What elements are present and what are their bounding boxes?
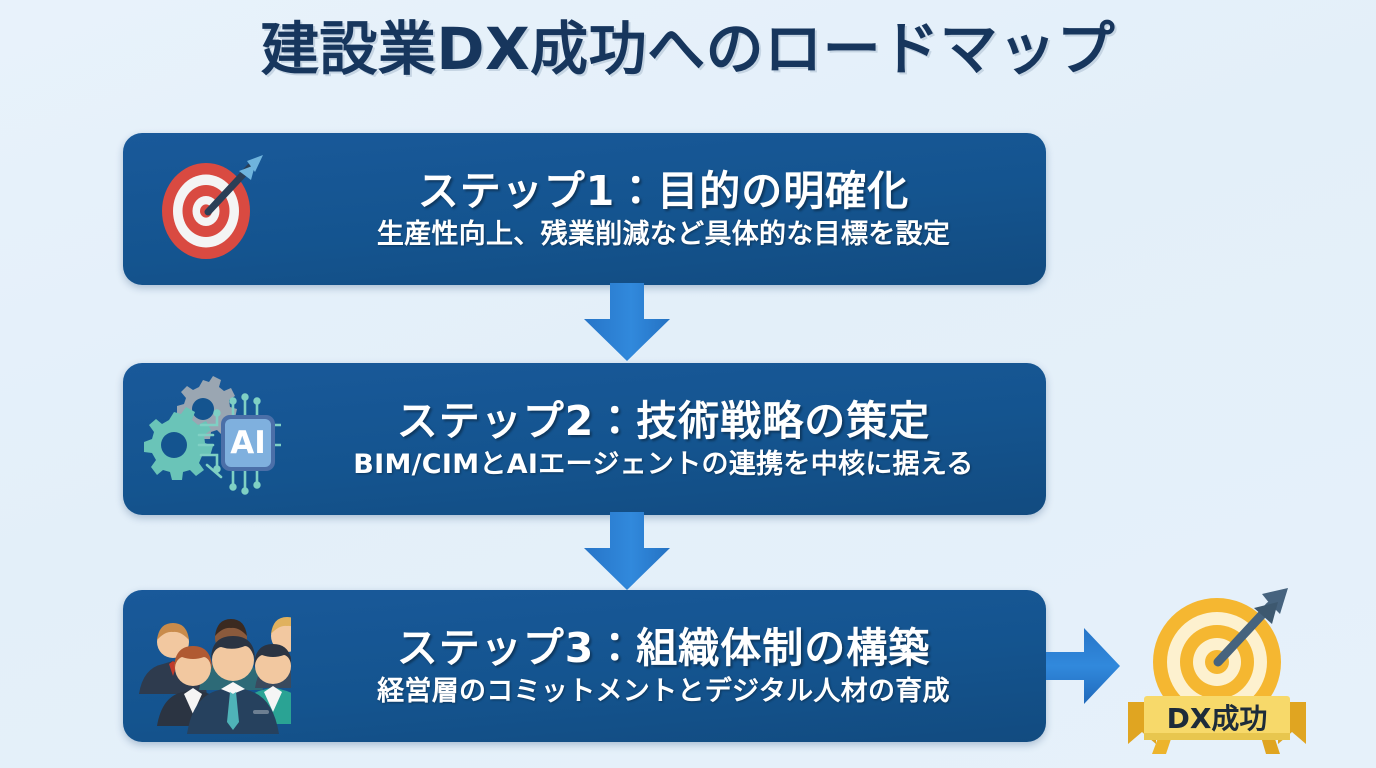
step-1-heading: ステップ1：目的の明確化 — [418, 167, 910, 215]
arrow-right-icon — [1046, 620, 1122, 712]
infographic-canvas: 建設業DX成功へのロードマップ ステップ1：目的の明確化 生産性向上、残業削減な… — [0, 0, 1376, 768]
gold-target-trophy-icon: DX成功 — [1122, 578, 1312, 768]
step-2-heading: ステップ2：技術戦略の策定 — [397, 397, 931, 445]
arrow-down-icon — [566, 512, 688, 590]
step-card-3-text: ステップ3：組織体制の構築 経営層のコミットメントとデジタル人材の育成 — [299, 624, 1046, 709]
arrow-down-icon — [566, 283, 688, 361]
step-2-subtitle: BIM/CIMとAIエージェントの連携を中核に据える — [353, 449, 973, 481]
target-arrow-icon — [123, 133, 299, 285]
step-1-subtitle: 生産性向上、残業削減など具体的な目標を設定 — [377, 219, 950, 251]
page-title: 建設業DX成功へのロードマップ — [0, 16, 1376, 83]
step-card-2-text: ステップ2：技術戦略の策定 BIM/CIMとAIエージェントの連携を中核に据える — [299, 397, 1046, 482]
step-card-1: ステップ1：目的の明確化 生産性向上、残業削減など具体的な目標を設定 — [123, 133, 1046, 285]
team-people-icon — [123, 590, 299, 742]
ai-chip-label: AI — [230, 425, 266, 461]
goal-ribbon-label: DX成功 — [1167, 702, 1268, 735]
step-card-2: AI ステップ2：技術戦略の策定 BIM/CIMとAIエージェントの連携を中核に… — [123, 363, 1046, 515]
step-3-subtitle: 経営層のコミットメントとデジタル人材の育成 — [377, 676, 950, 708]
step-card-3: ステップ3：組織体制の構築 経営層のコミットメントとデジタル人材の育成 — [123, 590, 1046, 742]
step-3-heading: ステップ3：組織体制の構築 — [397, 624, 931, 672]
gears-ai-chip-icon: AI — [123, 363, 299, 515]
step-card-1-text: ステップ1：目的の明確化 生産性向上、残業削減など具体的な目標を設定 — [299, 167, 1046, 252]
